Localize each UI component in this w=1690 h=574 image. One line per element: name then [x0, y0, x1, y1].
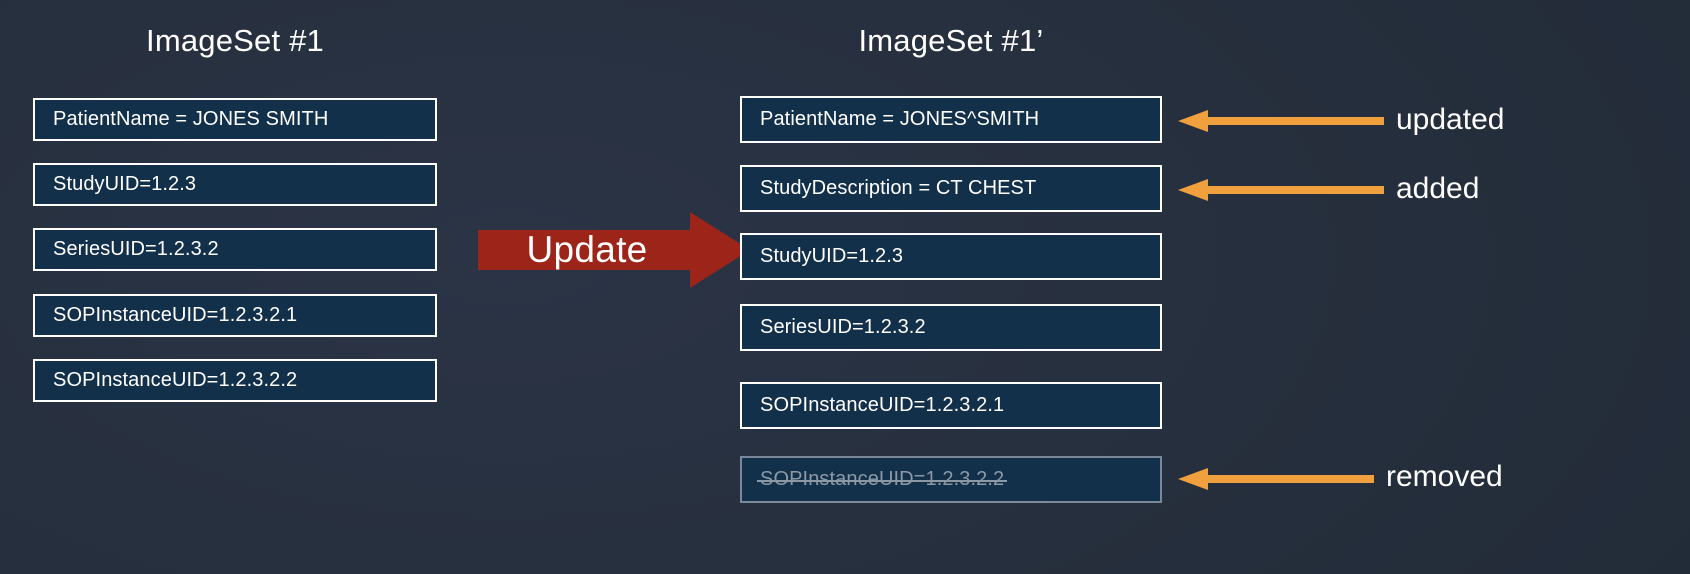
right-attribute-box-3: StudyUID=1.2.3: [740, 233, 1162, 280]
left-column-title: ImageSet #1: [33, 23, 437, 59]
left-attribute-text-5: SOPInstanceUID=1.2.3.2.2: [53, 369, 297, 392]
removed-annotation-arrow-icon: [1178, 466, 1374, 492]
right-attribute-box-4: SeriesUID=1.2.3.2: [740, 304, 1162, 351]
left-attribute-text-4: SOPInstanceUID=1.2.3.2.1: [53, 304, 297, 327]
right-attribute-text-5: SOPInstanceUID=1.2.3.2.1: [760, 394, 1004, 417]
right-attribute-text-3: StudyUID=1.2.3: [760, 245, 903, 268]
updated-annotation-label: updated: [1396, 103, 1504, 137]
left-attribute-box-4: SOPInstanceUID=1.2.3.2.1: [33, 294, 437, 337]
right-attribute-box-6-removed: SOPInstanceUID=1.2.3.2.2: [740, 456, 1162, 503]
left-attribute-text-3: SeriesUID=1.2.3.2: [53, 238, 219, 261]
left-attribute-text-2: StudyUID=1.2.3: [53, 173, 196, 196]
left-attribute-box-1: PatientName = JONES SMITH: [33, 98, 437, 141]
diagram-canvas: ImageSet #1 PatientName = JONES SMITH St…: [0, 0, 1690, 574]
right-attribute-box-1: PatientName = JONES^SMITH: [740, 96, 1162, 143]
left-attribute-box-5: SOPInstanceUID=1.2.3.2.2: [33, 359, 437, 402]
removed-annotation-label: removed: [1386, 460, 1503, 494]
right-attribute-text-2: StudyDescription = CT CHEST: [760, 177, 1036, 200]
right-column-title: ImageSet #1’: [740, 23, 1162, 59]
left-attribute-text-1: PatientName = JONES SMITH: [53, 108, 328, 131]
right-attribute-box-2: StudyDescription = CT CHEST: [740, 165, 1162, 212]
added-annotation-arrow-icon: [1178, 177, 1384, 203]
update-arrow-icon: [478, 212, 750, 288]
right-attribute-text-6: SOPInstanceUID=1.2.3.2.2: [760, 468, 1004, 491]
left-attribute-box-2: StudyUID=1.2.3: [33, 163, 437, 206]
left-attribute-box-3: SeriesUID=1.2.3.2: [33, 228, 437, 271]
added-annotation-label: added: [1396, 172, 1479, 206]
right-attribute-text-1: PatientName = JONES^SMITH: [760, 108, 1039, 131]
updated-annotation-arrow-icon: [1178, 108, 1384, 134]
right-attribute-text-4: SeriesUID=1.2.3.2: [760, 316, 926, 339]
right-attribute-box-5: SOPInstanceUID=1.2.3.2.1: [740, 382, 1162, 429]
